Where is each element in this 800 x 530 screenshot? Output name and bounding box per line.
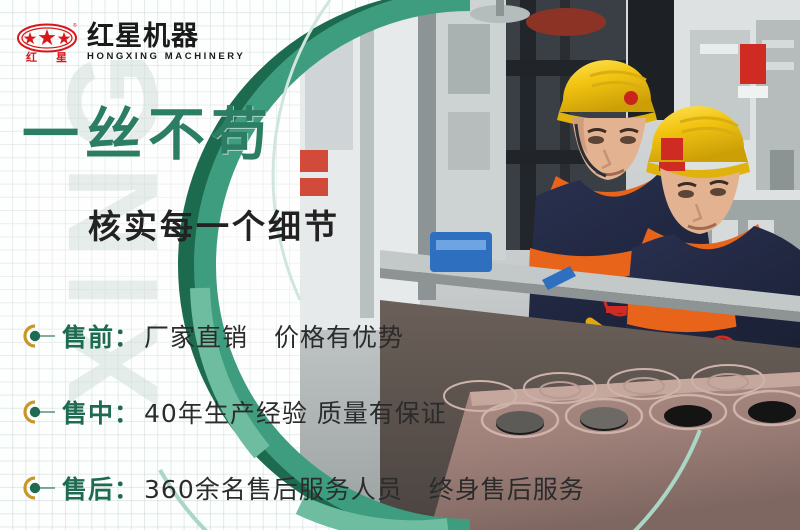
svg-text:®: ® (73, 22, 77, 29)
logo-emblem-icon: ® 红 星 (16, 22, 78, 64)
bullet-text: 40年生产经验 质量有保证 (144, 394, 447, 430)
arc-dot-bullet-icon (18, 399, 58, 425)
brand-logo[interactable]: ® 红 星 红星机器 HONGXING MACHINERY (16, 22, 245, 64)
list-item: 售中： 40年生产经验 质量有保证 (18, 374, 585, 450)
bullet-text: 厂家直销 价格有优势 (144, 318, 404, 354)
arc-dot-bullet-icon (18, 475, 58, 501)
bullet-label: 售后： (62, 470, 140, 506)
service-bullet-list: 售前： 厂家直销 价格有优势 售中： 40年生产经验 质量有保证 (18, 298, 585, 526)
bullet-text: 360余名售后服务人员 终身售后服务 (144, 470, 585, 506)
svg-text:红: 红 (26, 50, 37, 64)
list-item: 售后： 360余名售后服务人员 终身售后服务 (18, 450, 585, 526)
bullet-label: 售前： (62, 318, 140, 354)
arc-dot-bullet-icon (18, 323, 58, 349)
logo-name-zh: 红星机器 (87, 23, 245, 50)
promo-banner: XING (0, 0, 800, 530)
logo-name-en: HONGXING MACHINERY (87, 52, 245, 62)
headline-main: 一丝不苟 (22, 106, 274, 166)
svg-text:星: 星 (56, 51, 67, 64)
headline-sub: 核实每一个细节 (88, 200, 340, 248)
list-item: 售前： 厂家直销 价格有优势 (18, 298, 585, 374)
bullet-label: 售中： (62, 394, 140, 430)
